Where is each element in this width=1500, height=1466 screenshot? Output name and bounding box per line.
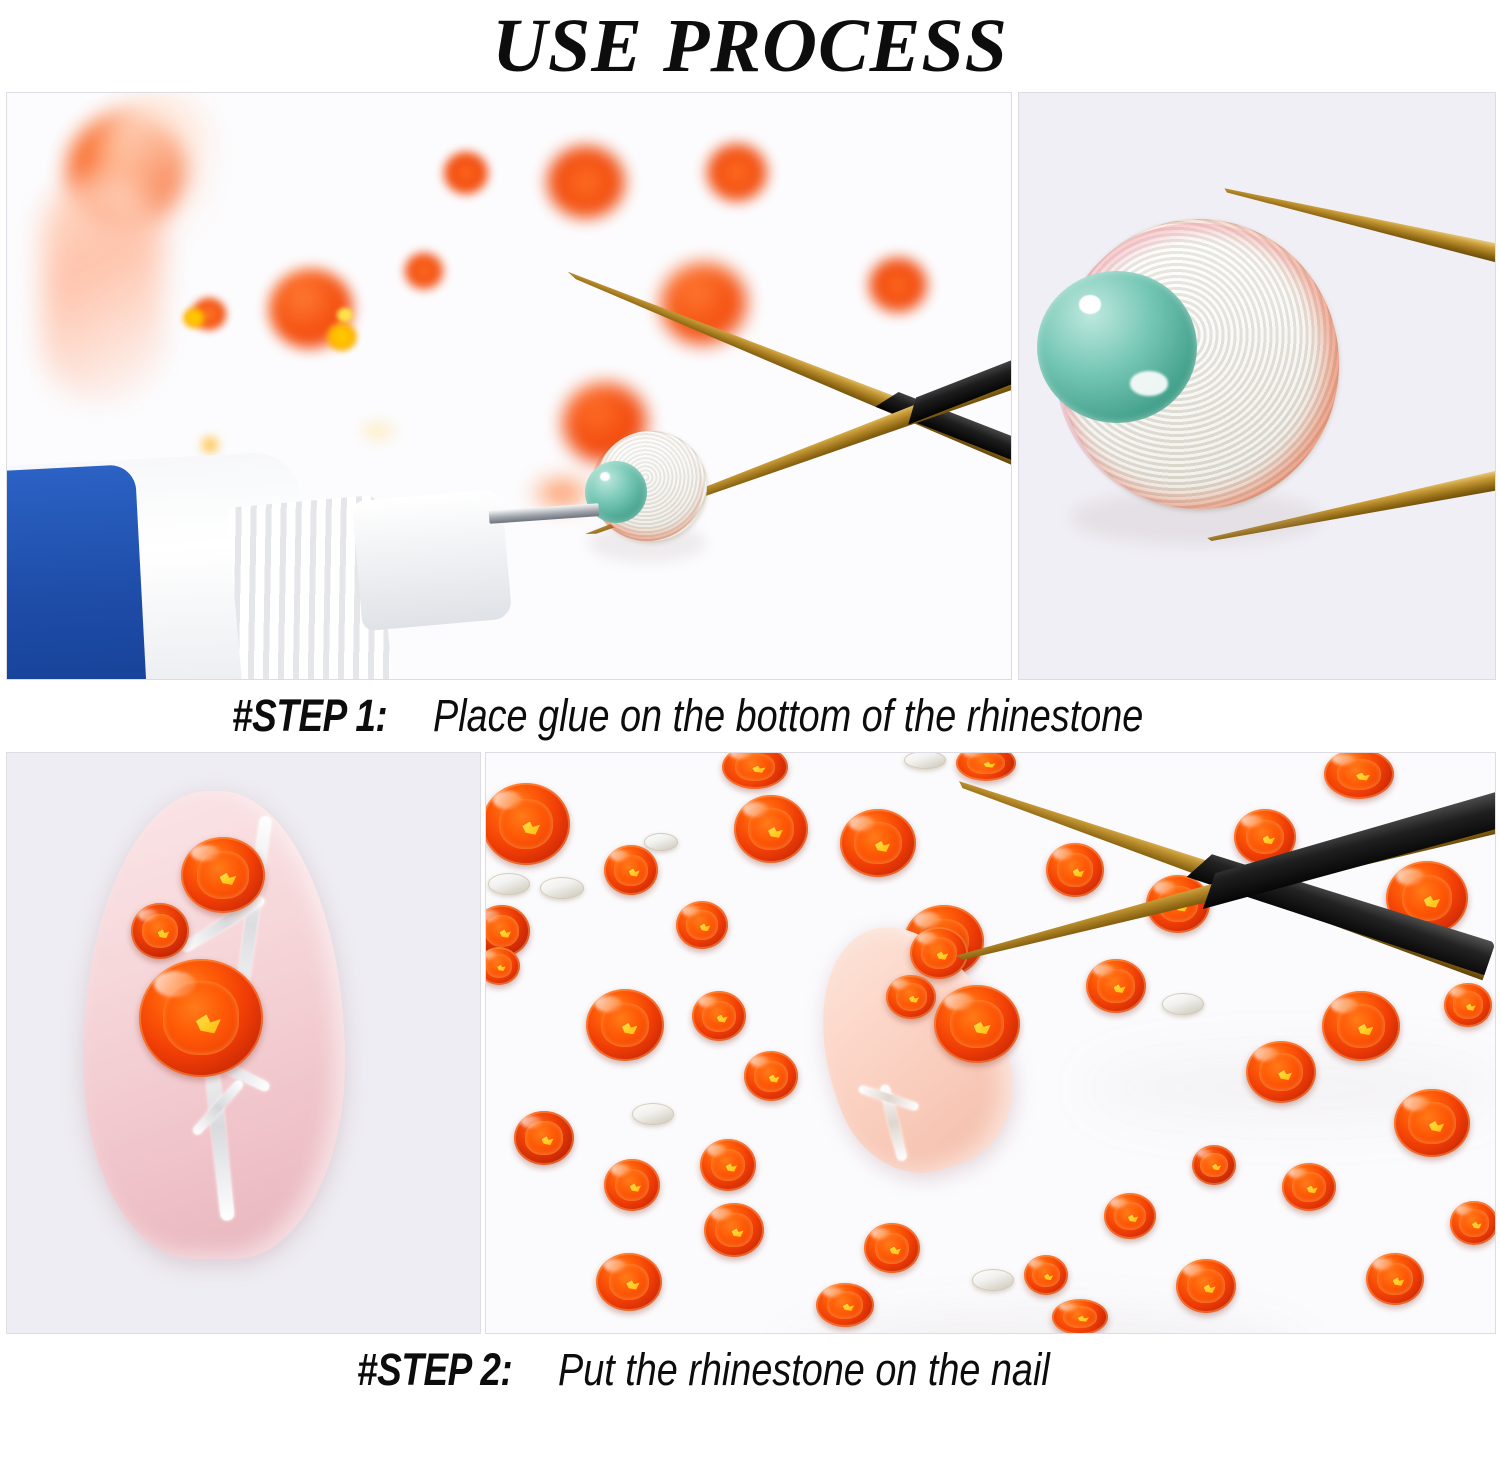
rhinestone-icon	[1394, 1089, 1470, 1157]
background-bokeh-dot	[357, 418, 399, 444]
background-bokeh-dot	[444, 152, 488, 194]
rhinestone-foil-back	[972, 1269, 1014, 1291]
step-1-label: #STEP 1:	[232, 690, 387, 742]
rhinestone-icon	[604, 845, 658, 895]
rhinestone-icon	[181, 837, 265, 913]
glue-application-photo: R	[6, 92, 1012, 680]
background-bokeh-dot	[547, 146, 625, 218]
placing-rhinestone-photo	[485, 752, 1496, 1334]
rhinestone-icon	[700, 1139, 756, 1191]
rhinestone-icon	[722, 752, 788, 789]
background-bokeh-dot	[102, 93, 212, 243]
rhinestone-icon	[1104, 1193, 1156, 1239]
rhinestone-icon	[139, 959, 263, 1077]
step-1-image-row: R	[6, 92, 1496, 680]
step-1-text: Place glue on the bottom of the rhinesto…	[433, 690, 1143, 742]
background-bokeh-dot	[405, 253, 443, 289]
step-2-caption: #STEP 2: Put the rhinestone on the nail	[0, 1334, 1500, 1406]
rhinestone-closeup-photo	[1018, 92, 1496, 680]
rhinestone-icon	[886, 975, 936, 1019]
rhinestone-icon	[704, 1203, 764, 1257]
rhinestone-icon	[604, 1159, 660, 1211]
rhinestone-icon	[1450, 1201, 1496, 1245]
rhinestone-icon	[676, 901, 728, 949]
rhinestone-foil-back	[904, 752, 946, 769]
rhinestone-icon	[1324, 752, 1394, 799]
rhinestone-icon	[1086, 959, 1146, 1013]
background-bokeh-dot	[183, 308, 205, 328]
rhinestone-icon	[840, 809, 916, 877]
rhinestone-icon	[1322, 991, 1400, 1061]
rhinestone-icon	[1192, 1145, 1236, 1185]
rhinestone-icon	[744, 1051, 798, 1101]
step-1-caption: #STEP 1: Place glue on the bottom of the…	[0, 680, 1500, 752]
rhinestone-icon	[1246, 1041, 1316, 1103]
nail-icon	[83, 791, 345, 1259]
rhinestone-icon	[934, 985, 1020, 1063]
rhinestone-icon	[514, 1111, 574, 1165]
rhinestone-foil-back	[632, 1103, 674, 1125]
rhinestone-foil-back	[488, 873, 530, 895]
rhinestone-icon	[1282, 1163, 1336, 1211]
step-2-text: Put the rhinestone on the nail	[558, 1344, 1050, 1396]
step-2-label: #STEP 2:	[357, 1344, 512, 1396]
page-title: USE PROCESS	[492, 8, 1008, 84]
rhinestone-icon	[734, 795, 808, 863]
background-bokeh-dot	[337, 308, 353, 322]
rhinestone-icon	[1176, 1259, 1236, 1313]
rhinestone-foil-back	[1162, 993, 1204, 1015]
rhinestone-foil-back	[644, 833, 678, 851]
rhinestone-icon	[816, 1283, 874, 1327]
rhinestone-icon	[1024, 1255, 1068, 1295]
rhinestone-foil-back	[540, 877, 584, 899]
background-bokeh-dot	[869, 258, 927, 312]
rhinestone-icon	[131, 903, 189, 959]
rhinestone-icon	[692, 991, 746, 1041]
glue-droplet	[1037, 271, 1197, 423]
background-bokeh-dot	[327, 323, 357, 351]
rhinestone-icon	[485, 947, 520, 985]
page-header: USE PROCESS	[0, 0, 1500, 92]
step-2-image-row	[6, 752, 1496, 1334]
rhinestone-icon	[1046, 843, 1104, 897]
glue-bottle-icon: R	[6, 445, 597, 680]
rhinestone-icon	[864, 1223, 920, 1273]
background-bokeh-dot	[707, 144, 767, 201]
rhinestone-icon	[485, 783, 570, 865]
rhinestone-icon	[1444, 983, 1492, 1027]
rhinestone-icon	[1366, 1253, 1424, 1305]
rhinestone-icon	[1052, 1299, 1108, 1334]
finished-nail-photo	[6, 752, 481, 1334]
rhinestone-icon	[596, 1253, 662, 1311]
rhinestone-icon	[586, 989, 664, 1061]
